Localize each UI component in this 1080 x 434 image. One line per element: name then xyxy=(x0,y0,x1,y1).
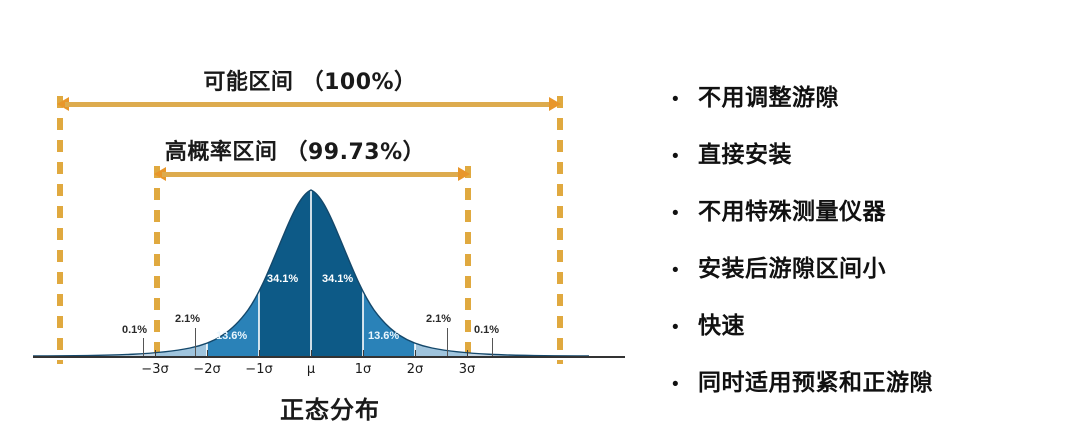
bullet-dot-icon: • xyxy=(672,261,698,280)
list-item-label: 不用特殊测量仪器 xyxy=(698,192,886,226)
region-label-sd3-left: 2.1% xyxy=(175,313,200,325)
region-label-sd2-right: 13.6% xyxy=(368,330,399,342)
arrow-shaft xyxy=(65,102,553,107)
bullet-dot-icon: • xyxy=(672,375,698,394)
axis-tick-mark xyxy=(363,350,364,357)
axis-tick-label-3sigma: 3σ xyxy=(459,362,476,377)
region-label-tail-left: 0.1% xyxy=(122,324,147,336)
slide-canvas: 可能区间 （100%） 高概率区间 （99.73%） xyxy=(0,0,1080,434)
region-label-sd3-right: 2.1% xyxy=(426,313,451,325)
axis-tick-label-neg3sigma: −3σ xyxy=(141,362,168,377)
band-tail-right xyxy=(467,180,660,365)
bullet-dot-icon: • xyxy=(672,318,698,337)
axis-tick-label-neg2sigma: −2σ xyxy=(193,362,220,377)
high-probability-range-label: 高概率区间 （99.73%） xyxy=(60,134,530,166)
leader-line-sd3-right xyxy=(447,328,448,356)
axis-tick-mark xyxy=(259,350,260,357)
leader-line-tail-right xyxy=(492,338,493,356)
list-item: • 快速 xyxy=(672,306,1072,363)
divider-sd1-left xyxy=(258,180,260,365)
axis-tick-mark xyxy=(155,350,156,357)
band-sd3-left xyxy=(155,180,207,365)
region-label-tail-right: 0.1% xyxy=(474,324,499,336)
list-item-label: 不用调整游隙 xyxy=(698,78,839,112)
band-sd3-right xyxy=(415,180,467,365)
possible-range-label: 可能区间 （100%） xyxy=(0,64,620,96)
list-item: • 同时适用预紧和正游隙 xyxy=(672,363,1072,420)
figure-caption: 正态分布 xyxy=(120,390,540,425)
list-item: • 不用调整游隙 xyxy=(672,78,1072,135)
arrow-shaft xyxy=(162,172,462,177)
region-label-sd2-left: 13.6% xyxy=(216,330,247,342)
axis-tick-label-mu: μ xyxy=(307,362,315,377)
axis-tick-mark xyxy=(207,350,208,357)
axis-tick-mark xyxy=(415,350,416,357)
axis-tick-label-2sigma: 2σ xyxy=(407,362,424,377)
list-item: • 安装后游隙区间小 xyxy=(672,249,1072,306)
axis-tick-mark xyxy=(467,350,468,357)
divider-mu xyxy=(310,180,312,365)
bullet-dot-icon: • xyxy=(672,147,698,166)
x-axis-line xyxy=(33,356,625,358)
arrow-head-right-icon xyxy=(458,167,470,181)
axis-tick-mark xyxy=(311,350,312,357)
list-item: • 直接安装 xyxy=(672,135,1072,192)
list-item-label: 快速 xyxy=(698,306,745,340)
divider-sd2-right xyxy=(414,180,416,365)
region-label-sd1-left: 34.1% xyxy=(267,273,298,285)
bullet-dot-icon: • xyxy=(672,90,698,109)
divider-sd1-right xyxy=(362,180,364,365)
axis-tick-label-neg1sigma: −1σ xyxy=(245,362,272,377)
possible-range-arrow xyxy=(57,96,561,112)
divider-sd2-left xyxy=(206,180,208,365)
region-label-sd1-right: 34.1% xyxy=(322,273,353,285)
leader-line-sd3-left xyxy=(195,328,196,356)
band-tail-left xyxy=(0,180,155,365)
benefits-bullet-list: • 不用调整游隙 • 直接安装 • 不用特殊测量仪器 • 安装后游隙区间小 • … xyxy=(672,78,1072,420)
list-item-label: 安装后游隙区间小 xyxy=(698,249,886,283)
list-item: • 不用特殊测量仪器 xyxy=(672,192,1072,249)
bullet-dot-icon: • xyxy=(672,204,698,223)
normal-distribution-figure: 可能区间 （100%） 高概率区间 （99.73%） xyxy=(0,0,660,434)
axis-tick-label-1sigma: 1σ xyxy=(355,362,372,377)
leader-line-tail-left xyxy=(143,338,144,356)
list-item-label: 同时适用预紧和正游隙 xyxy=(698,363,933,397)
arrow-head-right-icon xyxy=(549,97,561,111)
list-item-label: 直接安装 xyxy=(698,135,792,169)
